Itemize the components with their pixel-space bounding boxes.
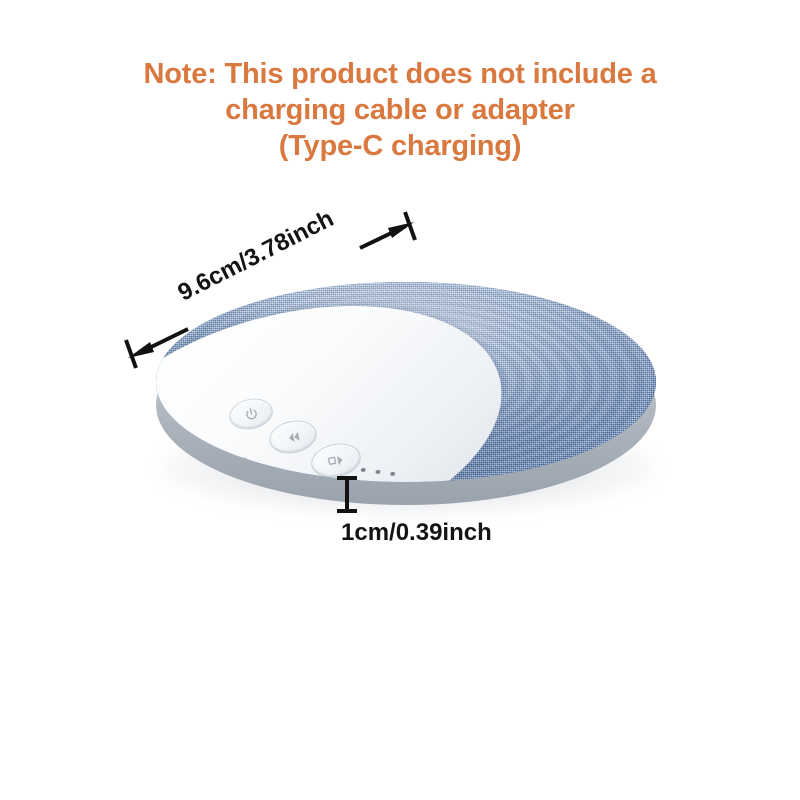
- note-line-3: (Type-C charging): [0, 128, 800, 164]
- product-image-canvas: Note: This product does not include a ch…: [0, 0, 800, 800]
- power-icon: [242, 405, 260, 423]
- led-dot: [375, 469, 381, 474]
- previous-track-icon: [283, 428, 303, 446]
- note-line-2: charging cable or adapter: [0, 92, 800, 128]
- product-illustration: [128, 270, 688, 530]
- play-next-icon: [325, 451, 347, 471]
- led-dot: [360, 467, 366, 472]
- product-note: Note: This product does not include a ch…: [0, 56, 800, 164]
- product-top-face: [156, 282, 656, 482]
- microphone-pinhole: [202, 458, 206, 462]
- thickness-label: 1cm/0.39inch: [341, 519, 492, 547]
- note-line-1: Note: This product does not include a: [0, 56, 800, 92]
- led-dot: [390, 471, 396, 476]
